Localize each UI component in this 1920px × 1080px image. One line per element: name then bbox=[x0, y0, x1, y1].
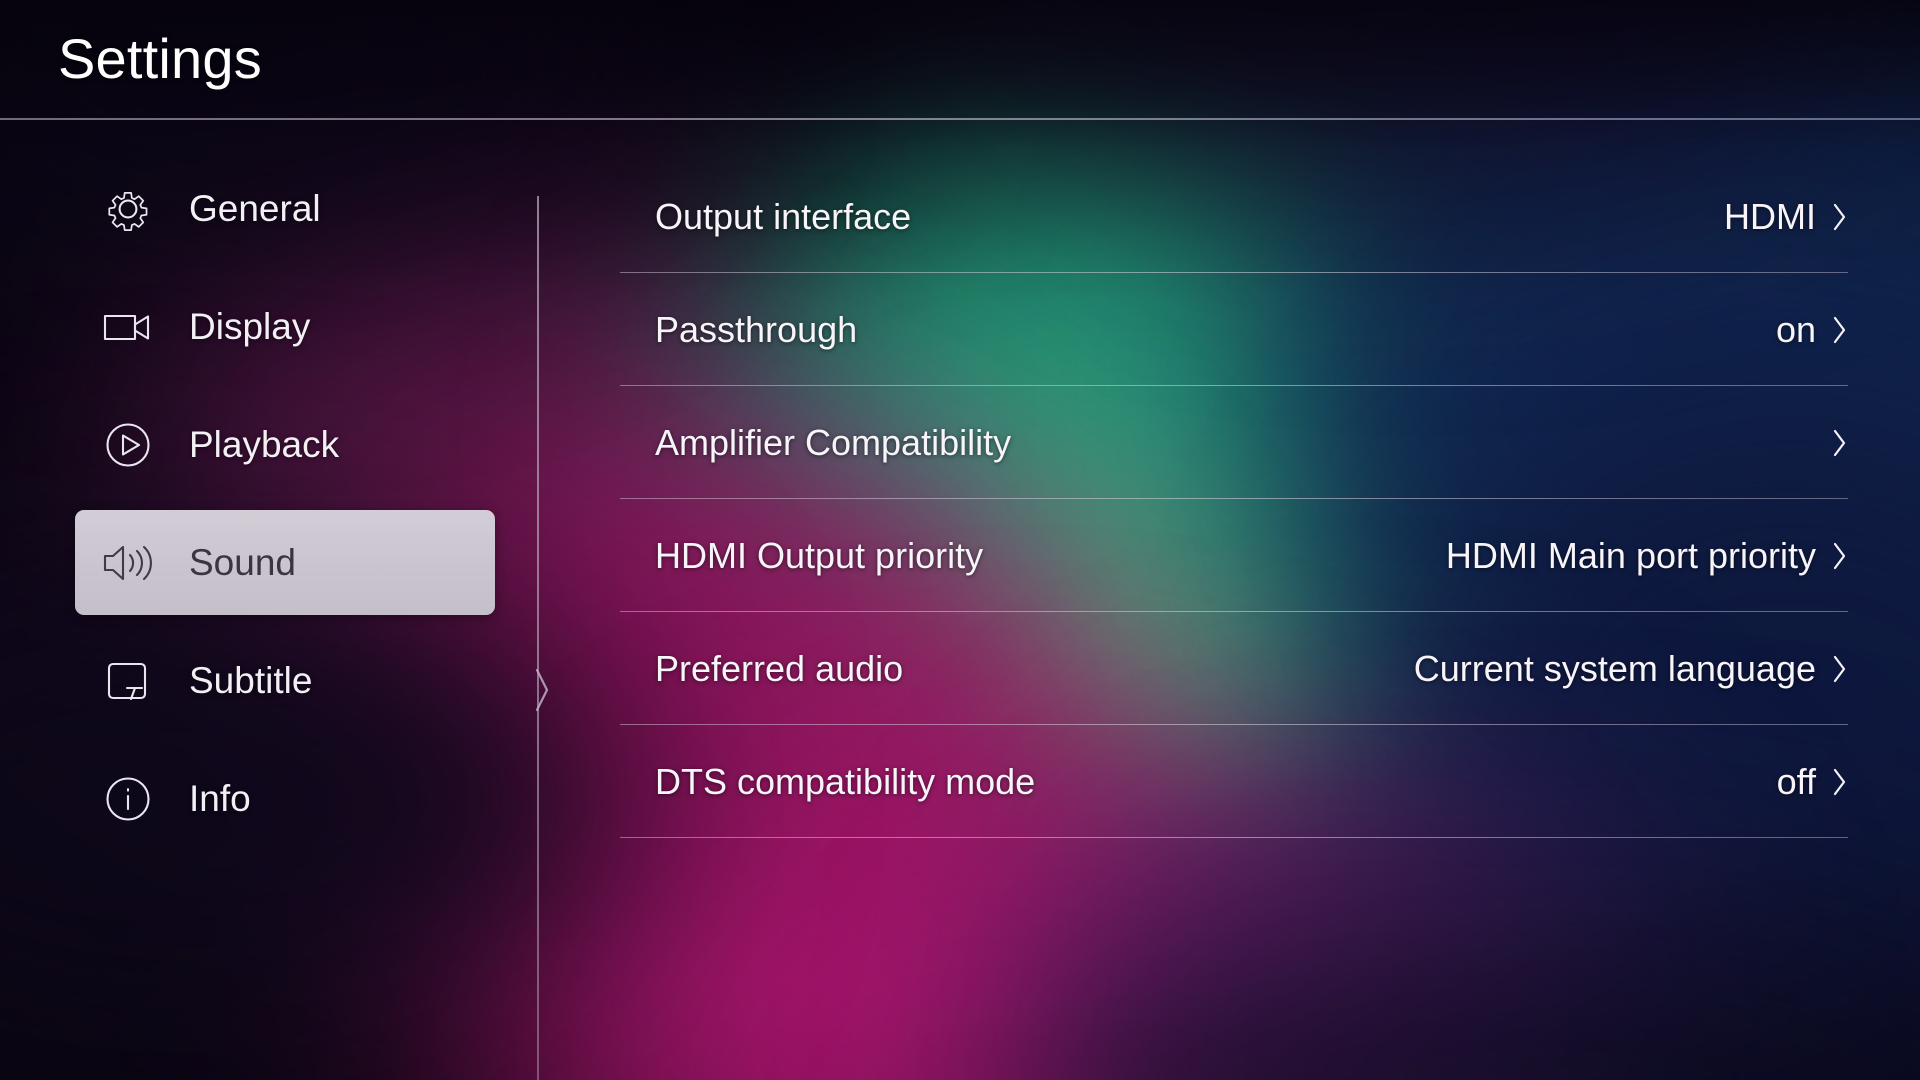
speaker-waves-icon bbox=[95, 530, 161, 596]
chevron-right-icon bbox=[1830, 201, 1848, 233]
setting-row-preferred-audio[interactable]: Preferred audio Current system language bbox=[620, 612, 1860, 725]
sidebar-item-general[interactable]: General bbox=[75, 156, 495, 261]
sidebar-item-label: Sound bbox=[189, 542, 296, 584]
setting-label: Amplifier Compatibility bbox=[655, 422, 1011, 464]
setting-row-dts-compatibility-mode[interactable]: DTS compatibility mode off bbox=[620, 725, 1860, 838]
chevron-right-icon bbox=[1830, 653, 1848, 685]
setting-row-hdmi-output-priority[interactable]: HDMI Output priority HDMI Main port prio… bbox=[620, 499, 1860, 612]
subtitle-icon bbox=[95, 648, 161, 714]
video-camera-icon bbox=[95, 294, 161, 360]
sidebar-item-info[interactable]: Info bbox=[75, 746, 495, 851]
sidebar-item-sound[interactable]: Sound bbox=[75, 510, 495, 615]
chevron-right-icon bbox=[1830, 314, 1848, 346]
play-circle-icon bbox=[95, 412, 161, 478]
sidebar-item-playback[interactable]: Playback bbox=[75, 392, 495, 497]
sidebar-item-display[interactable]: Display bbox=[75, 274, 495, 379]
sidebar-item-label: Info bbox=[189, 778, 251, 820]
chevron-right-icon bbox=[1830, 427, 1848, 459]
setting-row-amplifier-compatibility[interactable]: Amplifier Compatibility bbox=[620, 386, 1860, 499]
setting-value-group: HDMI bbox=[1724, 196, 1860, 238]
page-title: Settings bbox=[58, 26, 262, 91]
sidebar-item-label: Playback bbox=[189, 424, 339, 466]
setting-label: HDMI Output priority bbox=[655, 535, 983, 577]
setting-value: off bbox=[1777, 761, 1816, 803]
row-separator bbox=[620, 837, 1848, 839]
setting-label: Output interface bbox=[655, 196, 911, 238]
setting-label: Passthrough bbox=[655, 309, 857, 351]
setting-label: Preferred audio bbox=[655, 648, 903, 690]
sidebar-item-label: General bbox=[189, 188, 321, 230]
sidebar-panel-divider bbox=[537, 196, 539, 1080]
sidebar-item-label: Display bbox=[189, 306, 310, 348]
setting-value-group: off bbox=[1777, 761, 1860, 803]
setting-value: Current system language bbox=[1414, 648, 1816, 690]
setting-value-group: HDMI Main port priority bbox=[1446, 535, 1860, 577]
sidebar-nav: General Display Playback bbox=[0, 120, 530, 1080]
chevron-right-icon bbox=[1830, 766, 1848, 798]
sidebar-item-subtitle[interactable]: Subtitle bbox=[75, 628, 495, 733]
setting-value-group: Current system language bbox=[1414, 648, 1860, 690]
header-bar: Settings bbox=[0, 0, 1920, 120]
settings-list: Output interface HDMI Passthrough on Amp… bbox=[620, 160, 1860, 838]
setting-value: on bbox=[1776, 309, 1816, 351]
setting-label: DTS compatibility mode bbox=[655, 761, 1035, 803]
chevron-right-icon bbox=[1830, 540, 1848, 572]
setting-value-group: on bbox=[1776, 309, 1860, 351]
setting-row-output-interface[interactable]: Output interface HDMI bbox=[620, 160, 1860, 273]
sidebar-item-label: Subtitle bbox=[189, 660, 312, 702]
setting-value: HDMI Main port priority bbox=[1446, 535, 1816, 577]
selection-pointer-icon bbox=[529, 668, 549, 717]
setting-value-group bbox=[1816, 427, 1860, 459]
setting-value: HDMI bbox=[1724, 196, 1816, 238]
setting-row-passthrough[interactable]: Passthrough on bbox=[620, 273, 1860, 386]
gear-icon bbox=[95, 176, 161, 242]
info-circle-icon bbox=[95, 766, 161, 832]
